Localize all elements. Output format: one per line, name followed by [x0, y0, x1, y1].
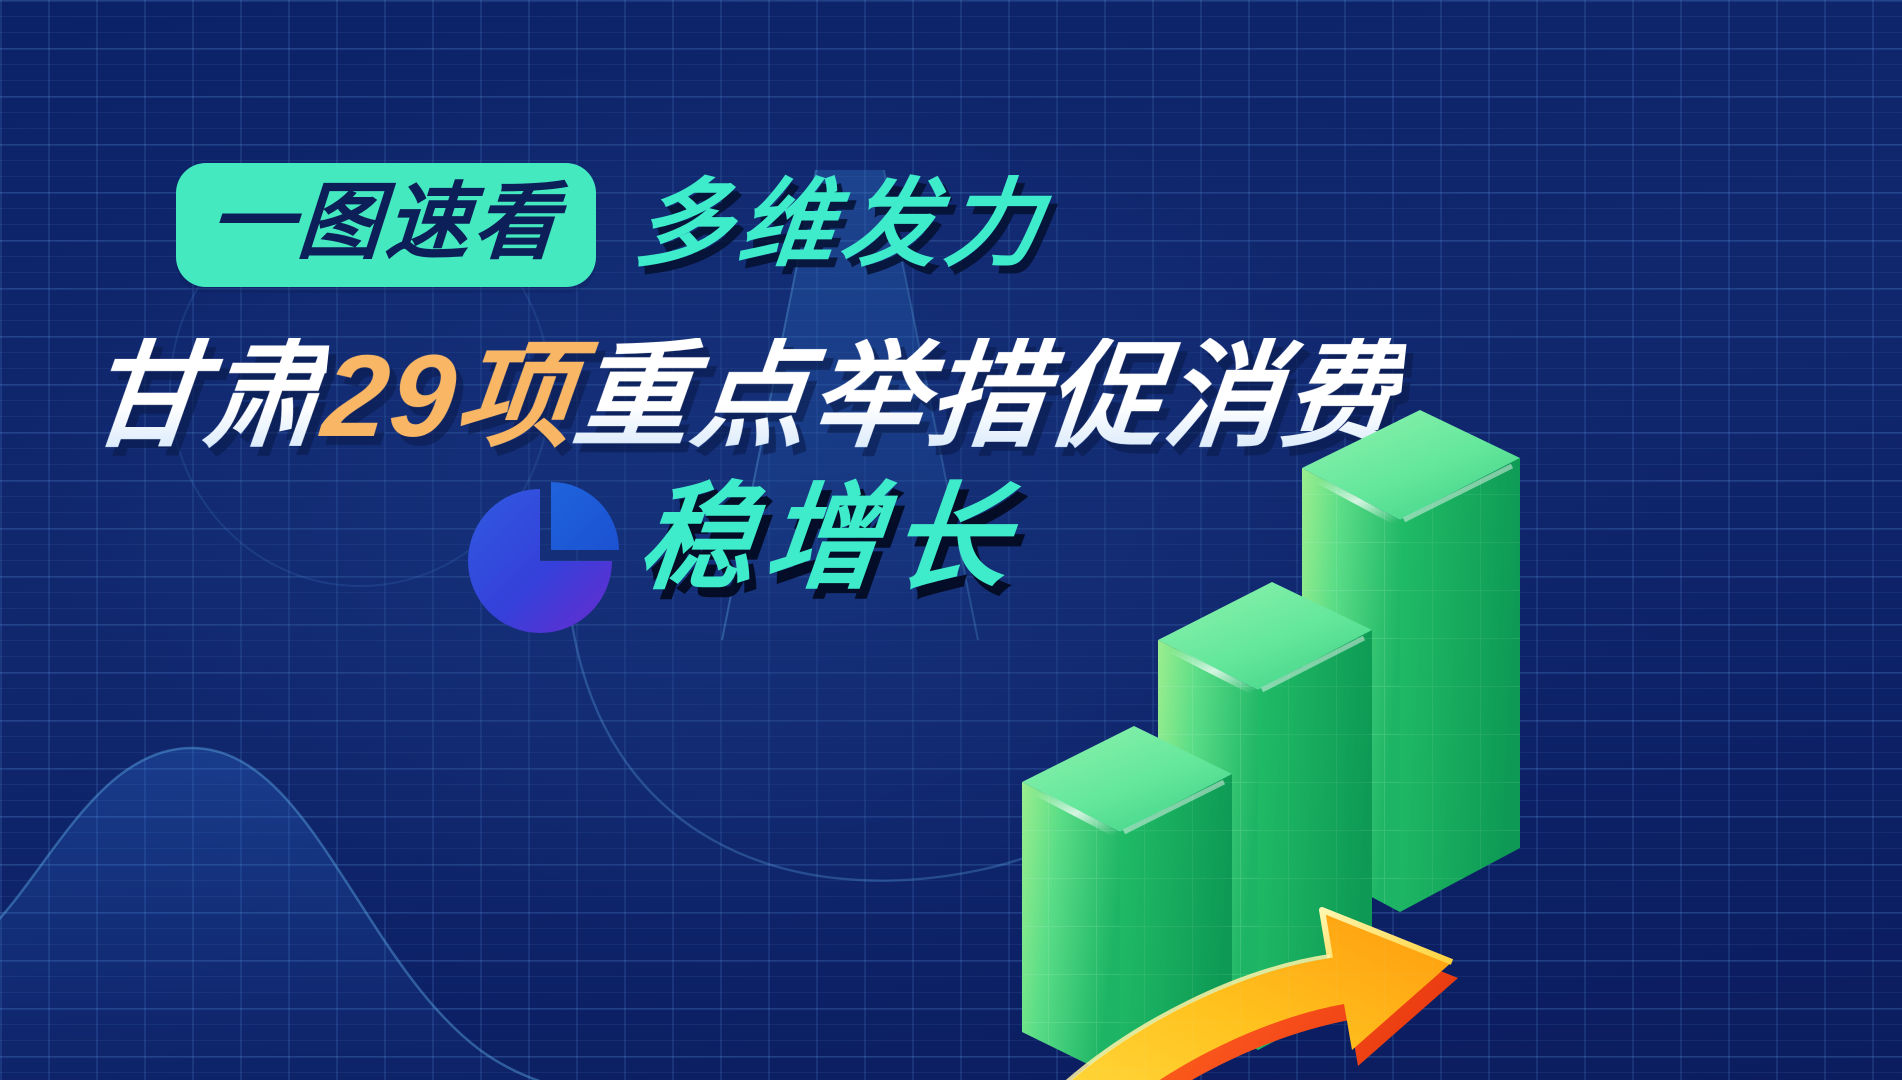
eyebrow-tail-label: 多维发力	[631, 177, 1053, 273]
growth-bar-chart	[1000, 350, 1902, 1080]
tail-headline-label: 稳增长	[634, 480, 1024, 596]
infographic-banner: 一图速看 多维发力 甘肃 29项 重点举措促消费 稳增长	[0, 0, 1902, 1080]
tail-headline-row: 稳增长	[640, 480, 1018, 596]
eyebrow-badge: 一图速看	[176, 163, 596, 287]
eyebrow-row: 一图速看 多维发力	[176, 163, 1048, 287]
main-headline-highlight: 29项	[318, 338, 581, 454]
eyebrow-badge-label: 一图速看	[207, 181, 565, 263]
main-headline-segment-1: 甘肃	[82, 338, 330, 454]
